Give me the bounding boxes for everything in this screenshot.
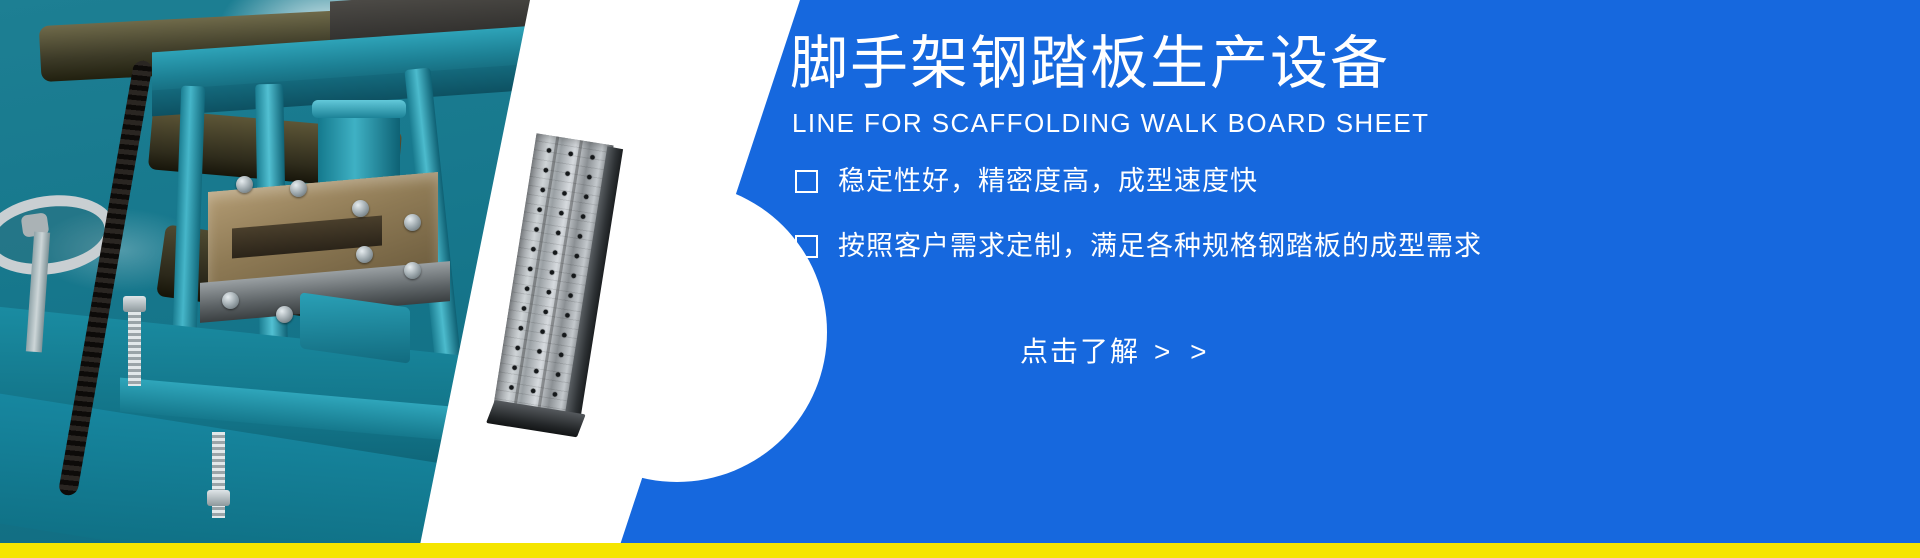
feature-item: 稳定性好，精密度高，成型速度快 xyxy=(795,168,1795,195)
feature-item: 按照客户需求定制，满足各种规格钢踏板的成型需求 xyxy=(795,233,1795,260)
banner-subtitle: LINE FOR SCAFFOLDING WALK BOARD SHEET xyxy=(792,108,1429,139)
bottom-accent-bar xyxy=(0,543,1920,558)
checkbox-outline-icon xyxy=(795,170,818,193)
machine-bolt xyxy=(276,306,293,323)
cta-arrow-icon: > > xyxy=(1154,336,1212,367)
machine-stud-nut xyxy=(123,296,146,312)
cta-label: 点击了解 xyxy=(1020,336,1140,367)
feature-item-label: 稳定性好，精密度高，成型速度快 xyxy=(838,168,1258,195)
checkbox-outline-icon xyxy=(795,235,818,258)
machine-threaded-stud xyxy=(128,300,141,386)
machine-bolt xyxy=(290,180,307,197)
machine-bolt xyxy=(404,214,421,231)
machine-bolt xyxy=(404,262,421,279)
cta-link[interactable]: 点击了解> > xyxy=(1020,330,1213,370)
machine-bolt xyxy=(236,176,253,193)
machine-cylinder-cap xyxy=(312,100,406,118)
machine-bolt xyxy=(222,292,239,309)
machine-bolt xyxy=(356,246,373,263)
machine-stud-nut xyxy=(207,490,230,506)
feature-item-label: 按照客户需求定制，满足各种规格钢踏板的成型需求 xyxy=(838,233,1482,260)
promo-banner: 脚手架钢踏板生产设备 LINE FOR SCAFFOLDING WALK BOA… xyxy=(0,0,1920,558)
banner-title: 脚手架钢踏板生产设备 xyxy=(790,32,1390,97)
machine-bolt xyxy=(352,200,369,217)
feature-list: 稳定性好，精密度高，成型速度快 按照客户需求定制，满足各种规格钢踏板的成型需求 xyxy=(795,168,1795,298)
